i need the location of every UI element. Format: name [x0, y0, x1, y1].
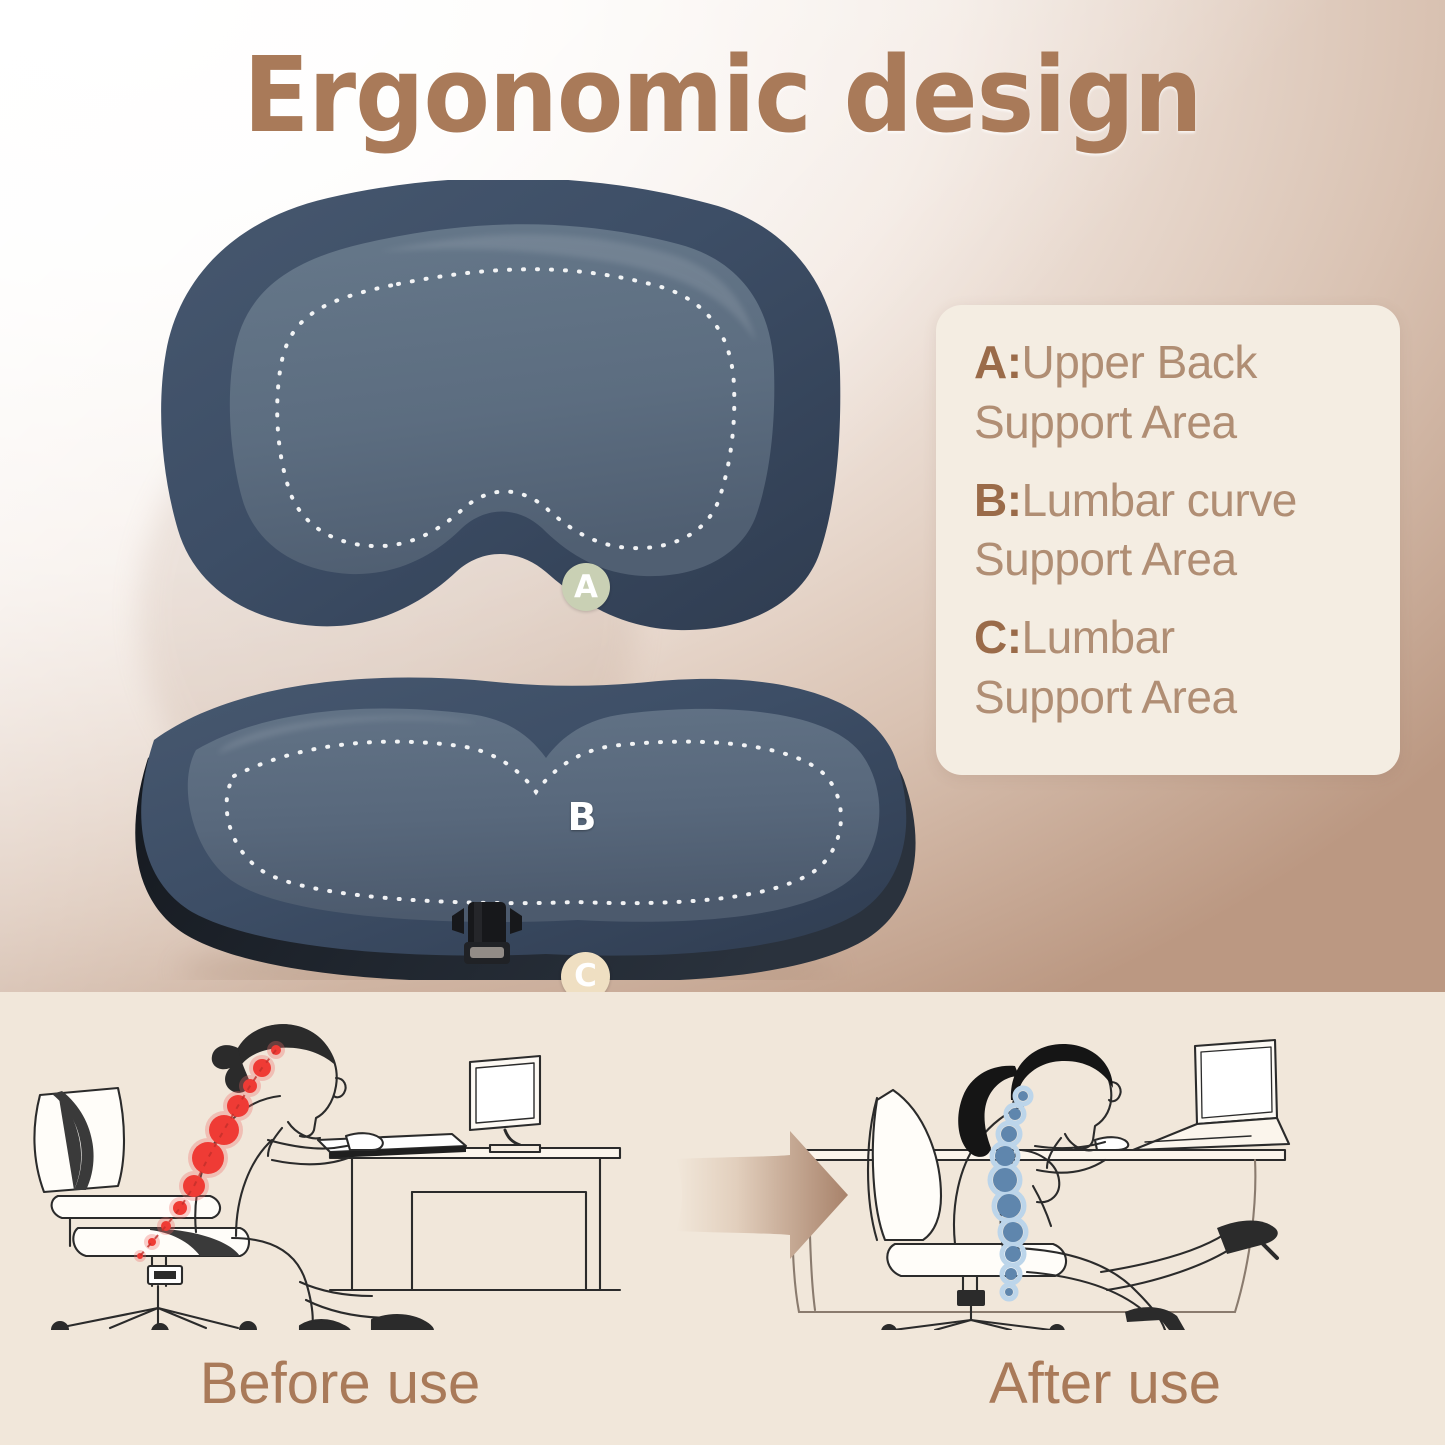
legend-item-a: A:Upper Back Support Area — [974, 333, 1370, 453]
top-section: Ergonomic design — [0, 0, 1445, 992]
legend-text-c-line1: Lumbar — [1022, 611, 1175, 663]
before-use-caption: Before use — [0, 1350, 680, 1417]
before-use-illustration — [0, 1000, 680, 1330]
transition-arrow-icon — [672, 1125, 852, 1265]
legend-text-a-line2: Support Area — [974, 396, 1237, 448]
after-panel: After use — [765, 992, 1445, 1445]
legend-text-b-line2: Support Area — [974, 533, 1237, 585]
legend-text-b-line1: Lumbar curve — [1022, 474, 1297, 526]
marker-b: B — [560, 792, 604, 842]
legend-item-b: B:Lumbar curve Support Area — [974, 471, 1370, 591]
legend-key-a: A: — [974, 336, 1022, 388]
legend-item-c: C:Lumbar Support Area — [974, 608, 1370, 728]
product-infographic: Ergonomic design — [0, 0, 1445, 1445]
after-use-illustration — [765, 1000, 1445, 1330]
before-panel: Before use — [0, 992, 680, 1445]
after-use-caption: After use — [765, 1350, 1445, 1417]
page-title: Ergonomic design — [51, 34, 1395, 156]
legend-text-a-line1: Upper Back — [1022, 336, 1257, 388]
marker-a: A — [562, 563, 610, 611]
legend-key-c: C: — [974, 611, 1022, 663]
cushion-product-image: A B C — [78, 180, 928, 980]
legend-panel: A:Upper Back Support Area B:Lumbar curve… — [936, 305, 1400, 775]
legend-key-b: B: — [974, 474, 1022, 526]
legend-text-c-line2: Support Area — [974, 671, 1237, 723]
